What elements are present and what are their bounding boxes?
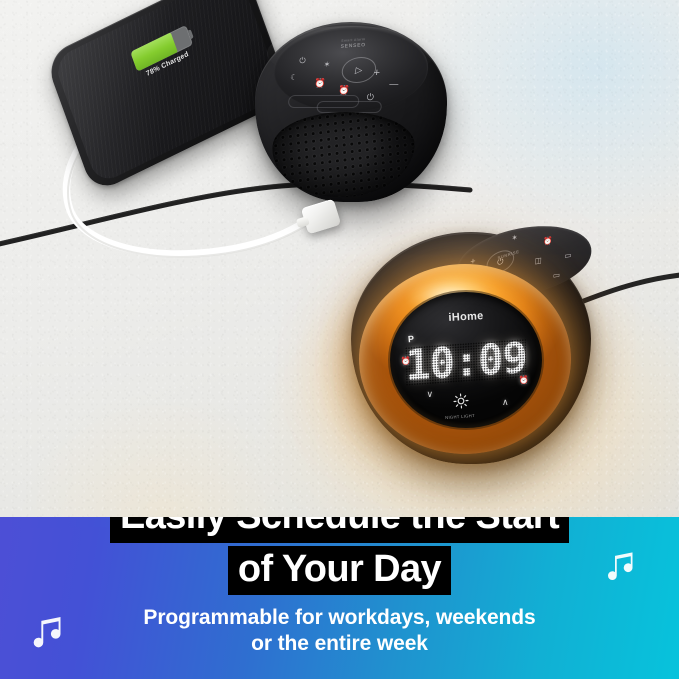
play-pause-icon[interactable]: ▷	[339, 58, 378, 84]
speaker-grille	[269, 112, 417, 197]
bluetooth-pair-icon[interactable]: ⏻	[299, 58, 306, 66]
headline-line-1-wrap: Easily Schedule the Start	[0, 517, 679, 543]
ihome-brand-label: iHome	[448, 310, 484, 324]
bluetooth-icon[interactable]: ✶	[511, 234, 518, 242]
alarm-one-icon[interactable]: ⏰	[314, 80, 326, 89]
speaker-grille-shading	[269, 112, 417, 197]
snooze-icon[interactable]: ▭	[553, 272, 560, 281]
speaker-brand-name: SENSEO	[341, 42, 366, 50]
alarm-two-indicator-icon: ⏰	[519, 376, 529, 386]
usb-icon[interactable]: ▭	[564, 251, 571, 260]
banner-headline: Easily Schedule the Start of Your Day	[0, 517, 679, 595]
nightlight-label: NIGHT LIGHT	[445, 413, 475, 420]
clock-lcd: 10:09	[405, 339, 527, 386]
brightness-sun-icon[interactable]	[453, 392, 470, 409]
radio-icon[interactable]: ◫	[534, 257, 541, 266]
promo-banner: Easily Schedule the Start of Your Day Pr…	[0, 517, 679, 679]
headline-line-2: of Your Day	[228, 546, 451, 596]
orange-sunrise-clock: SUNRISE + ✶ ⏰ ◫ ▭ ▭ ⏻ iHome 10:09 P ⏰ ⏰ …	[345, 228, 597, 480]
speaker-brand-label: Smart Alarm SENSEO	[341, 38, 366, 51]
snooze-icon[interactable]: ☾	[290, 75, 298, 83]
volume-down-icon[interactable]: —	[389, 81, 399, 90]
alarm-one-indicator-icon: ⏰	[400, 357, 410, 367]
usb-connector-neck	[296, 216, 310, 228]
clock-display-face: iHome 10:09 P ⏰ ⏰ ∨ ∧	[390, 292, 542, 428]
product-marketing-image: 78% Charged Smart Alarm SENSEO ⏻ ✶ ☾ ⏰ ⏰…	[0, 0, 679, 679]
volume-up-icon[interactable]: ∧	[502, 398, 509, 407]
subtitle-line-1: Programmable for workdays, weekends	[0, 605, 679, 631]
subtitle-line-2: or the entire week	[0, 631, 679, 657]
headline-line-2-wrap: of Your Day	[0, 546, 679, 596]
volume-down-icon[interactable]: ∨	[426, 390, 433, 399]
bluetooth-icon[interactable]: ✶	[323, 61, 330, 69]
clock-meridiem-indicator: P	[408, 334, 415, 344]
headline-line-1: Easily Schedule the Start	[110, 517, 569, 543]
banner-subtitle: Programmable for workdays, weekends or t…	[0, 605, 679, 658]
black-speaker-clock: Smart Alarm SENSEO ⏻ ✶ ☾ ⏰ ⏰ + — ⏻ ▷	[255, 22, 447, 202]
alarm-icon[interactable]: ⏰	[543, 237, 553, 246]
clock-time-display: 10:09	[405, 339, 527, 386]
